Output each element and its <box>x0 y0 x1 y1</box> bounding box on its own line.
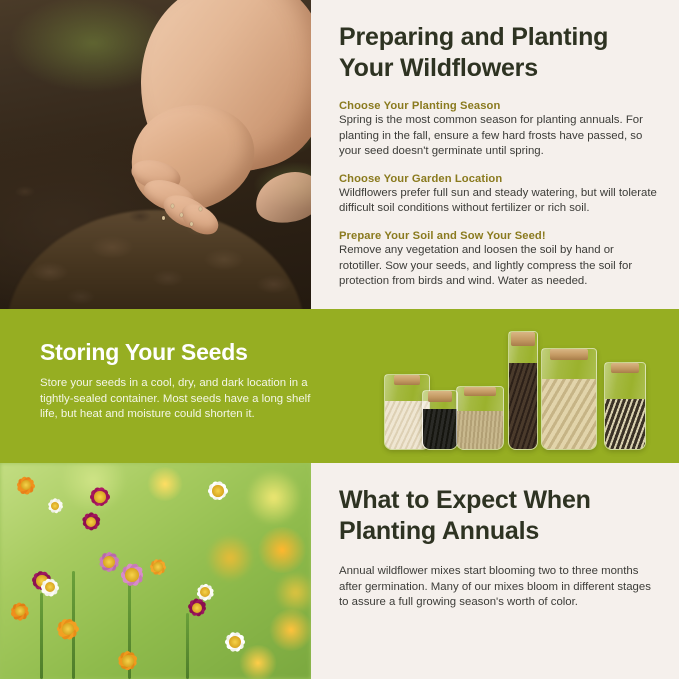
background-bloom <box>268 609 311 651</box>
orange-cosmos-flower <box>6 465 46 505</box>
storing-text-column: Storing Your Seeds Store your seeds in a… <box>40 339 330 423</box>
cork-stopper <box>394 375 420 385</box>
orange-cosmos-flower <box>0 591 40 631</box>
orange-cosmos-flower <box>140 549 176 585</box>
section-preparing-and-planting: Preparing and Planting Your Wildflowers … <box>0 0 679 309</box>
wildflower-cosmos-bouquet-photo <box>0 463 311 679</box>
orange-cosmos-flower <box>44 605 92 653</box>
pumpkin-seed-jar <box>541 348 597 450</box>
white-cosmos-flower <box>186 573 224 611</box>
seed-storage-jars-photo <box>378 323 673 458</box>
pink-cosmos-flower <box>86 539 132 585</box>
hand-sowing-seeds-in-soil-photo <box>0 0 311 309</box>
page-title: Preparing and Planting Your Wildflowers <box>339 22 657 84</box>
background-bloom <box>146 467 184 501</box>
garden-location-block: Choose Your Garden Location Wildflowers … <box>339 173 657 217</box>
what-to-expect-heading: What to Expect When Planting Annuals <box>339 485 657 547</box>
cork-stopper <box>511 332 535 346</box>
tan-seed-jar <box>456 386 504 450</box>
jar-contents <box>423 409 457 449</box>
preparing-text-column: Preparing and Planting Your Wildflowers … <box>311 0 679 309</box>
body-prepare-soil: Remove any vegetation and loosen the soi… <box>339 243 657 290</box>
cork-stopper <box>464 387 496 396</box>
cork-stopper <box>550 349 588 360</box>
dark-tube-jar <box>508 331 538 450</box>
orange-cosmos-flower <box>106 639 150 679</box>
planting-season-block: Choose Your Planting Season Spring is th… <box>339 100 657 160</box>
cork-stopper <box>428 391 452 402</box>
jar-contents <box>457 411 503 449</box>
cork-stopper <box>611 363 639 373</box>
storing-heading: Storing Your Seeds <box>40 339 330 366</box>
storing-body: Store your seeds in a cool, dry, and dar… <box>40 376 330 423</box>
subheading-garden-location: Choose Your Garden Location <box>339 173 657 185</box>
background-bloom <box>238 645 278 679</box>
jar-contents <box>509 363 537 449</box>
seed <box>162 216 165 220</box>
jar-contents <box>605 399 645 449</box>
prepare-soil-block: Prepare Your Soil and Sow Your Seed! Rem… <box>339 230 657 290</box>
wildflower-planting-infographic: Preparing and Planting Your Wildflowers … <box>0 0 679 679</box>
section-what-to-expect: What to Expect When Planting Annuals Ann… <box>0 463 679 679</box>
what-to-expect-text-column: What to Expect When Planting Annuals Ann… <box>311 463 679 679</box>
section-storing-your-seeds: Storing Your Seeds Store your seeds in a… <box>0 309 679 463</box>
body-garden-location: Wildflowers prefer full sun and steady w… <box>339 186 657 217</box>
white-cosmos-flower <box>196 469 240 513</box>
black-seed-jar <box>422 390 458 450</box>
background-bloom <box>256 527 308 573</box>
subheading-planting-season: Choose Your Planting Season <box>339 100 657 112</box>
body-planting-season: Spring is the most common season for pla… <box>339 113 657 160</box>
magenta-cosmos-flower <box>70 501 112 543</box>
mixed-seed-jar <box>604 362 646 450</box>
jar-contents <box>542 379 596 449</box>
seed <box>171 204 174 208</box>
what-to-expect-body: Annual wildflower mixes start blooming t… <box>339 564 657 611</box>
subheading-prepare-soil: Prepare Your Soil and Sow Your Seed! <box>339 230 657 242</box>
